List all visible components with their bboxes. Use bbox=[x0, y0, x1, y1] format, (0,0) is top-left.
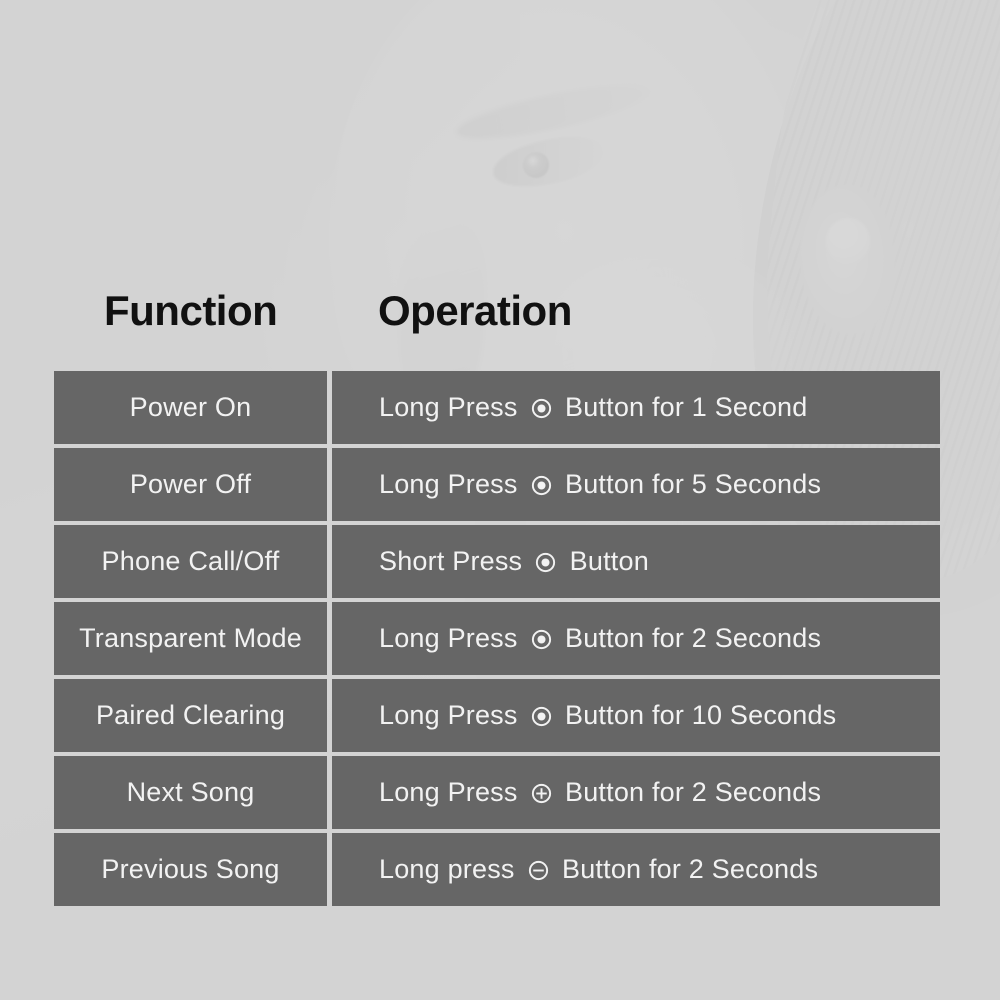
cell-function: Paired Clearing bbox=[54, 679, 327, 752]
power-button-icon bbox=[529, 397, 553, 421]
power-button-icon bbox=[534, 551, 558, 575]
instruction-card: Function Operation Power OnLong Press Bu… bbox=[0, 0, 1000, 1000]
table-row: Phone Call/OffShort Press Button bbox=[54, 525, 940, 598]
operation-prefix: Long Press bbox=[379, 469, 525, 500]
table-row: Previous SongLong press Button for 2 Sec… bbox=[54, 833, 940, 906]
table-row: Power OffLong Press Button for 5 Seconds bbox=[54, 448, 940, 521]
cell-operation: Long Press Button for 5 Seconds bbox=[332, 448, 940, 521]
operation-prefix: Long press bbox=[379, 854, 522, 885]
minus-circle-icon bbox=[526, 859, 550, 883]
table-row: Next SongLong Press Button for 2 Seconds bbox=[54, 756, 940, 829]
operation-suffix: Button for 10 Seconds bbox=[557, 700, 836, 731]
operation-suffix: Button bbox=[562, 546, 649, 577]
column-header-function: Function bbox=[104, 286, 277, 336]
table-row: Transparent ModeLong Press Button for 2 … bbox=[54, 602, 940, 675]
cell-operation: Long Press Button for 2 Seconds bbox=[332, 602, 940, 675]
cell-operation: Short Press Button bbox=[332, 525, 940, 598]
operation-prefix: Long Press bbox=[379, 623, 525, 654]
cell-function: Phone Call/Off bbox=[54, 525, 327, 598]
cell-function: Transparent Mode bbox=[54, 602, 327, 675]
cell-operation: Long Press Button for 1 Second bbox=[332, 371, 940, 444]
power-button-icon bbox=[529, 628, 553, 652]
cell-operation: Long Press Button for 2 Seconds bbox=[332, 756, 940, 829]
function-operation-table: Power OnLong Press Button for 1 SecondPo… bbox=[54, 371, 940, 906]
operation-prefix: Short Press bbox=[379, 546, 530, 577]
power-button-icon bbox=[529, 474, 553, 498]
operation-suffix: Button for 1 Second bbox=[557, 392, 807, 423]
operation-prefix: Long Press bbox=[379, 777, 525, 808]
cell-operation: Long press Button for 2 Seconds bbox=[332, 833, 940, 906]
column-header-operation: Operation bbox=[378, 286, 572, 336]
power-button-icon bbox=[529, 705, 553, 729]
table-row: Power OnLong Press Button for 1 Second bbox=[54, 371, 940, 444]
operation-suffix: Button for 2 Seconds bbox=[557, 623, 821, 654]
operation-prefix: Long Press bbox=[379, 700, 525, 731]
table-header-row: Function Operation bbox=[54, 286, 940, 344]
operation-suffix: Button for 2 Seconds bbox=[557, 777, 821, 808]
cell-function: Power Off bbox=[54, 448, 327, 521]
cell-function: Power On bbox=[54, 371, 327, 444]
cell-function: Previous Song bbox=[54, 833, 327, 906]
cell-function: Next Song bbox=[54, 756, 327, 829]
plus-circle-icon bbox=[529, 782, 553, 806]
cell-operation: Long Press Button for 10 Seconds bbox=[332, 679, 940, 752]
table-row: Paired ClearingLong Press Button for 10 … bbox=[54, 679, 940, 752]
operation-suffix: Button for 2 Seconds bbox=[554, 854, 818, 885]
operation-prefix: Long Press bbox=[379, 392, 525, 423]
operation-suffix: Button for 5 Seconds bbox=[557, 469, 821, 500]
